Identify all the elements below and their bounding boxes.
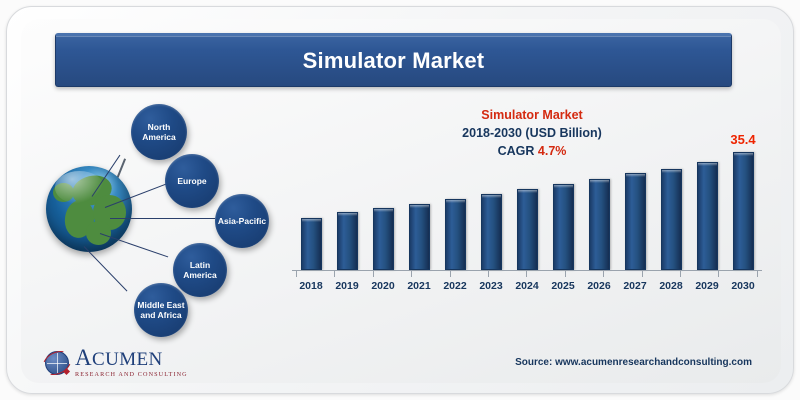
source-text: Source: www.acumenresearchandconsulting.… [515,357,752,368]
bar [553,184,574,270]
logo-tagline: RESEARCH AND CONSULTING [75,371,188,378]
logo-wordmark: ACUMEN [75,346,188,369]
acumen-logo[interactable]: ACUMEN RESEARCH AND CONSULTING [42,345,217,379]
tick-mark [411,271,412,277]
region-label: Latin America [173,260,227,281]
tick-mark [488,271,489,277]
region-bubble-north-america[interactable]: North America [131,104,187,160]
bar [697,162,718,270]
header-banner: Simulator Market [55,33,732,87]
x-axis-ticks [296,271,758,277]
tick-mark [296,271,297,277]
bar [301,218,322,270]
region-label: Europe [177,176,206,186]
bar [481,194,502,270]
chart-heading: Simulator Market 2018-2030 (USD Billion)… [417,106,647,160]
x-axis-label: 2023 [476,280,506,296]
tick-mark [718,271,719,277]
x-axis-label: 2025 [548,280,578,296]
bar [445,199,466,270]
x-axis-label: 2024 [512,280,542,296]
logo-name-rest: CUMEN [92,349,163,370]
region-label: Middle East and Africa [134,300,188,321]
bar-value-label: 35.4 [730,132,755,147]
region-bubble-latin-america[interactable]: Latin America [173,243,227,297]
tick-mark [334,271,335,277]
x-axis-labels: 2018201920202021202220232024202520262027… [296,280,758,296]
cagr-value: 4.7% [538,144,567,158]
x-axis-label: 2027 [620,280,650,296]
bar [373,208,394,270]
bar [625,173,646,270]
bar [733,152,754,270]
x-axis-label: 2030 [728,280,758,296]
chart-title: Simulator Market [417,106,647,124]
tick-mark [565,271,566,277]
region-bubble-middle-east-africa[interactable]: Middle East and Africa [134,283,188,337]
logo-name-cap: A [75,345,92,370]
bar [517,189,538,270]
plot-area: 35.4 20182019202020212022202320242025202… [292,162,762,308]
bar [409,204,430,270]
globe-swoosh-logo-icon [42,348,70,376]
tick-mark [450,271,451,277]
bar [589,179,610,270]
x-axis-label: 2029 [692,280,722,296]
x-axis-label: 2019 [332,280,362,296]
bar [337,212,358,270]
cagr-label: CAGR [498,144,538,158]
tick-mark [526,271,527,277]
x-axis-label: 2026 [584,280,614,296]
connector-asia-pacific [110,218,215,219]
x-axis-label: 2021 [404,280,434,296]
chart-subtitle: 2018-2030 (USD Billion) [417,124,647,142]
tick-mark [642,271,643,277]
chart-cagr: CAGR 4.7% [417,142,647,160]
region-bubble-europe[interactable]: Europe [165,154,219,208]
tick-mark [757,271,758,277]
tick-mark [603,271,604,277]
x-axis-label: 2022 [440,280,470,296]
region-label: Asia-Pacific [218,216,266,226]
bar [661,169,682,270]
tick-mark [373,271,374,277]
x-axis-label: 2020 [368,280,398,296]
page-title: Simulator Market [303,48,485,74]
tick-mark [680,271,681,277]
infographic-canvas: Simulator Market North America Europe As… [0,0,800,400]
bar-chart: Simulator Market 2018-2030 (USD Billion)… [292,100,762,315]
x-axis-label: 2028 [656,280,686,296]
region-bubble-asia-pacific[interactable]: Asia-Pacific [215,194,269,248]
region-label: North America [131,122,187,143]
x-axis-label: 2018 [296,280,326,296]
